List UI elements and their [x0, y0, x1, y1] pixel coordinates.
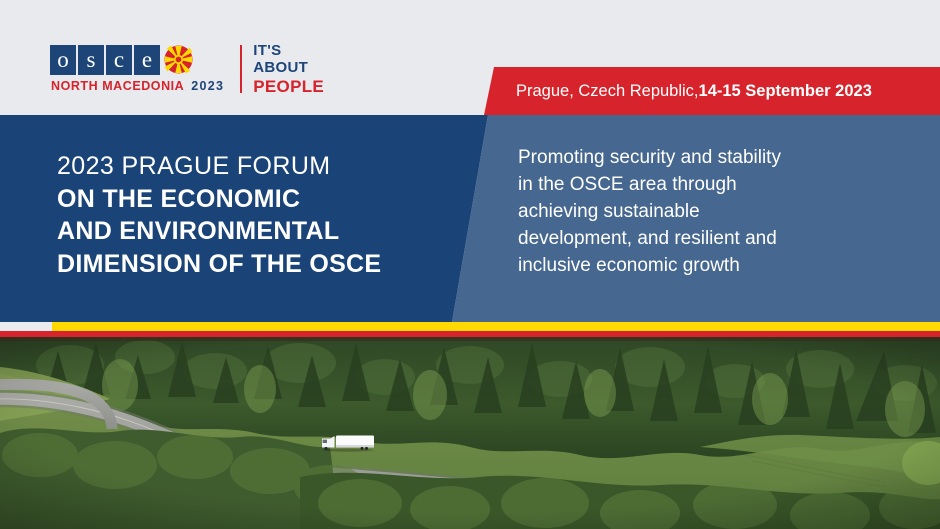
logo-vertical-divider	[240, 45, 242, 93]
hero-photo	[0, 337, 940, 529]
slogan-line-1: IT'S	[253, 43, 324, 60]
yellow-accent-stripe	[52, 322, 940, 331]
slogan-line-2: ABOUT	[253, 60, 324, 77]
osce-north-macedonia-logo: o s c e	[50, 44, 324, 96]
macedonian-sun-icon	[163, 44, 194, 75]
event-poster: o s c e	[0, 0, 940, 529]
osce-logo-subtitle-row: NORTH MACEDONIA 2023	[51, 79, 224, 93]
osce-letter-tiles: o s c e	[50, 45, 160, 75]
logo-slogan: IT'S ABOUT PEOPLE	[253, 43, 324, 96]
osce-logo-block: o s c e	[50, 44, 224, 93]
osce-letter-e: e	[134, 45, 160, 75]
description-line-1: Promoting security and stability	[518, 145, 918, 172]
description-line-5: inclusive economic growth	[518, 253, 918, 280]
description-line-2: in the OSCE area through	[518, 172, 918, 199]
banner-dates-label: 14-15 September 2023	[699, 82, 872, 101]
description-line-3: achieving sustainable	[518, 199, 918, 226]
poster-header: o s c e	[0, 0, 940, 115]
osce-letter-o: o	[50, 45, 76, 75]
event-details-banner-text: Prague, Czech Republic, 14-15 September …	[516, 67, 872, 115]
logo-country-label: NORTH MACEDONIA	[51, 79, 184, 93]
title-line-3: AND ENVIRONMENTAL	[57, 215, 381, 248]
forest-road-illustration	[0, 337, 940, 529]
title-line-1: 2023 PRAGUE FORUM	[57, 150, 381, 183]
description-line-4: development, and resilient and	[518, 226, 918, 253]
title-line-4: DIMENSION OF THE OSCE	[57, 248, 381, 281]
slogan-line-3: PEOPLE	[253, 77, 324, 96]
logo-year-label: 2023	[191, 79, 224, 93]
banner-location-label: Prague, Czech Republic,	[516, 82, 699, 101]
event-description: Promoting security and stability in the …	[518, 145, 918, 280]
page-title: 2023 PRAGUE FORUM ON THE ECONOMIC AND EN…	[57, 150, 381, 280]
osce-letter-s: s	[78, 45, 104, 75]
osce-wordmark-row: o s c e	[50, 44, 224, 75]
title-band: 2023 PRAGUE FORUM ON THE ECONOMIC AND EN…	[0, 115, 940, 322]
title-line-2: ON THE ECONOMIC	[57, 183, 381, 216]
osce-letter-c: c	[106, 45, 132, 75]
